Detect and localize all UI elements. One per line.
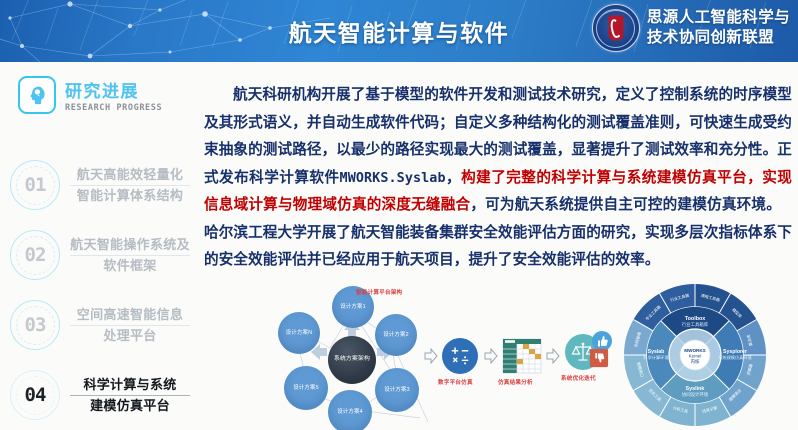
alliance-brand-line2: 技术协同创新联盟: [647, 28, 790, 48]
sidebar-section-header: 研究进展 RESEARCH PROGRESS: [18, 76, 162, 114]
sidebar-item-01-number: 01: [10, 160, 60, 210]
sidebar-item-03[interactable]: 03 空间高速智能信息 处理平台: [10, 295, 196, 355]
diagram-petal-4: 设计方案4: [328, 390, 372, 430]
sidebar-nav: 研究进展 RESEARCH PROGRESS 01 航天高能效轻量化 智能计算体…: [0, 62, 196, 430]
sidebar-item-04-line2: 建模仿真平台: [70, 396, 190, 415]
body-paragraph: 航天科研机构开展了基于模型的软件开发和测试技术研究，定义了控制系统的时序模型及其…: [204, 82, 792, 275]
alliance-brand: 思源人工智能科学与 技术协同创新联盟: [592, 4, 790, 52]
spreadsheet-grid-icon: [502, 336, 542, 376]
slide-header: 航天智能计算与软件 思源人工智能科学与 技术协同创新联盟: [0, 0, 798, 62]
sunburst-inner-syslink-sub: 协同设计环境: [682, 391, 709, 398]
body-part4: 哈尔滨工程大学开展了航天智能装备集群安全效能评估方面的研究，实现多层次指标体系下…: [204, 225, 792, 269]
sidebar-item-02-label: 航天智能操作系统及 软件框架: [70, 236, 190, 275]
sidebar-item-03-label: 空间高速智能信息 处理平台: [70, 306, 190, 345]
alliance-brand-text: 思源人工智能科学与 技术协同创新联盟: [647, 8, 790, 48]
math-operators-icon: [442, 338, 478, 374]
sunburst-svg: Toolbox 行业工具箱库 Sysplorer 系统建模仿真环境 Syslin…: [600, 280, 790, 430]
sidebar-section-title-cn: 研究进展: [65, 77, 162, 102]
sidebar-item-02[interactable]: 02 航天智能操作系统及 软件框架: [10, 225, 196, 285]
sidebar-item-03-line1: 空间高速智能信息: [70, 306, 190, 326]
sunburst-center-line3: 内核: [691, 358, 700, 365]
slide-root: 航天智能计算与软件 思源人工智能科学与 技术协同创新联盟: [0, 0, 798, 430]
sidebar-item-02-line2: 软件框架: [70, 256, 190, 275]
body-product-name: MWORKS.Syslab: [340, 171, 446, 186]
sidebar-item-04-label: 科学计算与系统 建模仿真平台: [70, 376, 190, 415]
diagram-annotation-top: 智能计算平台架构: [356, 288, 402, 296]
diagram-petal-2: 设计方案2: [375, 314, 417, 356]
diagram-petal-5-label: 设计方案5: [293, 385, 319, 392]
sidebar-item-04-line1: 科学计算与系统: [70, 376, 190, 396]
sidebar-item-03-line2: 处理平台: [70, 326, 190, 345]
sunburst-center-line2: Kernel: [689, 354, 702, 359]
sunburst-inner-toolbox-sub: 行业工具箱库: [682, 321, 709, 328]
sunburst-inner-syslab-sub: 科学计算环境: [643, 354, 668, 361]
sidebar-item-01-line2: 智能计算体系结构: [70, 186, 190, 205]
flow-arrow-1-icon: [424, 348, 438, 364]
sidebar-item-01-num-text: 01: [25, 174, 46, 196]
diagram-center-node: 系统方案架构: [328, 336, 376, 384]
diagram-petal-2-label: 设计方案2: [383, 332, 409, 339]
sidebar-item-04[interactable]: 04 科学计算与系统 建模仿真平台: [10, 365, 196, 425]
alliance-emblem-icon: [592, 4, 640, 52]
sunburst-center-line1: MWORKS: [684, 348, 705, 353]
architecture-diagram: 系统方案架构 设计方案1 设计方案2 设计方案3 设计方案4 设计方案5 设计方…: [232, 286, 576, 430]
sidebar-item-01-line1: 航天高能效轻量化: [70, 166, 190, 186]
diagram-petal-n-label: 设计方案N: [286, 330, 312, 337]
flow-label-2: 仿真结果分析: [498, 378, 533, 386]
mworks-sunburst-diagram: Toolbox 行业工具箱库 Sysplorer 系统建模仿真环境 Syslin…: [600, 280, 790, 430]
sidebar-item-04-number: 04: [10, 370, 60, 420]
diagram-petal-3: 设计方案3: [375, 368, 419, 412]
diagram-petal-n: 设计方案N: [278, 312, 320, 354]
sidebar-item-03-number: 03: [10, 300, 60, 350]
sunburst-inner-sysplorer-sub: 系统建模仿真环境: [718, 354, 752, 361]
diagram-petal-3-label: 设计方案3: [384, 387, 410, 394]
diagram-petal-4-label: 设计方案4: [337, 409, 363, 416]
body-part2: ，: [446, 170, 461, 186]
sidebar-item-01-label: 航天高能效轻量化 智能计算体系结构: [70, 166, 190, 205]
diagram-petal-5: 设计方案5: [284, 366, 328, 410]
sidebar-section-title-en: RESEARCH PROGRESS: [65, 103, 162, 113]
flow-arrow-2-icon: [484, 348, 498, 364]
sidebar-item-03-num-text: 03: [25, 314, 46, 336]
sidebar-item-02-line1: 航天智能操作系统及: [70, 236, 190, 256]
sidebar-item-01[interactable]: 01 航天高能效轻量化 智能计算体系结构: [10, 155, 196, 215]
brain-head-icon: [18, 76, 56, 114]
sidebar-item-04-num-text: 04: [25, 384, 46, 406]
diagram-center-node-label: 系统方案架构: [334, 356, 370, 364]
flow-arrow-3-icon: [546, 348, 560, 364]
flow-label-1: 数字平台仿真: [438, 378, 473, 386]
alliance-brand-line1: 思源人工智能科学与: [647, 8, 790, 28]
body-part3: ，可为航天系统提供自主可控的建模仿真环境。: [470, 197, 781, 213]
sidebar-item-02-num-text: 02: [25, 244, 46, 266]
brain-head-glyph: [26, 84, 48, 106]
diagram-petal-1-label: 设计方案1: [340, 304, 366, 311]
math-operators-glyph: [449, 345, 471, 367]
sidebar-item-02-number: 02: [10, 230, 60, 280]
flow-label-3: 系统优化迭代: [561, 374, 596, 382]
